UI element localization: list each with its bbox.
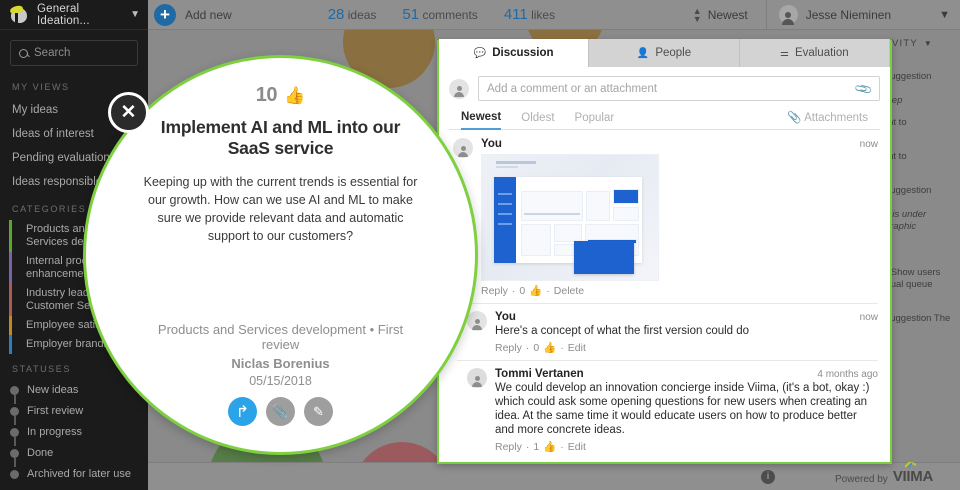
separator: · <box>560 441 564 453</box>
chat-icon: 💬 <box>474 48 486 59</box>
sort-label: Newest <box>708 8 748 22</box>
stat-comments[interactable]: 51 comments <box>402 6 477 23</box>
reply-button[interactable]: Reply <box>495 342 522 354</box>
comment-attachment-image[interactable] <box>481 154 659 281</box>
separator: · <box>512 285 516 297</box>
new-comment-row: Add a comment or an attachment 📎 <box>439 67 890 107</box>
workspace-title: General Ideation... <box>37 3 130 27</box>
paperclip-icon[interactable]: 📎 <box>853 78 873 98</box>
add-new-button[interactable]: + Add new <box>148 4 232 26</box>
viima-wordmark: VIIMA <box>893 468 933 485</box>
share-button[interactable]: ↱ <box>228 397 257 426</box>
like-count: 10 <box>256 84 277 107</box>
stat-label: comments <box>422 8 477 22</box>
status-dot-icon <box>10 386 19 395</box>
tab-evaluation[interactable]: ⚌Evaluation <box>740 39 890 67</box>
separator: · <box>526 441 530 453</box>
stat-label: likes <box>531 8 555 22</box>
close-icon[interactable]: ✕ <box>108 92 149 133</box>
comment-placeholder: Add a comment or an attachment <box>487 83 657 95</box>
sidebar-status-label: New ideas <box>27 384 78 397</box>
comment-sort-row: Newest Oldest Popular 📎 Attachments <box>449 107 880 130</box>
sliders-icon: ⚌ <box>780 48 789 59</box>
tab-discussion[interactable]: 💬Discussion <box>439 39 589 67</box>
user-menu[interactable]: Jesse Nieminen ▼ <box>766 0 960 30</box>
comment-item: Tommi Vertanen4 months agoWe could devel… <box>457 360 878 453</box>
attachments-label: Attachments <box>804 112 868 124</box>
edit-button[interactable]: ✎ <box>304 397 333 426</box>
separator: · <box>546 285 550 297</box>
info-icon[interactable]: i <box>761 470 775 484</box>
sidebar-status-label: Done <box>27 447 53 460</box>
top-toolbar: + Add new 28 ideas51 comments411 likes ▲… <box>148 0 960 30</box>
viima-tick-icon <box>905 462 916 468</box>
comment-input[interactable]: Add a comment or an attachment 📎 <box>478 76 880 101</box>
idea-title: Implement AI and ML into our SaaS servic… <box>138 117 423 159</box>
comment-timestamp: 4 months ago <box>817 369 878 380</box>
paperclip-icon: 📎 <box>272 404 288 420</box>
search-placeholder: Search <box>34 47 70 59</box>
plus-icon: + <box>154 4 176 26</box>
status-dot-icon <box>10 470 19 479</box>
status-dot-icon <box>10 407 19 416</box>
idea-detail-modal: 💬Discussion👤People⚌Evaluation Add a comm… <box>437 40 892 464</box>
tab-label: Evaluation <box>795 47 849 59</box>
comment-action-third[interactable]: Delete <box>554 285 584 297</box>
search-input[interactable]: Search <box>10 40 138 66</box>
avatar <box>453 138 473 158</box>
comment-like-count: 0 <box>533 342 539 354</box>
idea-description: Keeping up with the current trends is es… <box>138 173 423 245</box>
reply-button[interactable]: Reply <box>495 441 522 453</box>
comment-like-count: 0 <box>519 285 525 297</box>
sidebar-item-status-1[interactable]: First review <box>0 401 148 422</box>
attachments-link[interactable]: 📎 Attachments <box>787 110 868 129</box>
sidebar-item-status-3[interactable]: Done <box>0 443 148 464</box>
tab-label: Discussion <box>492 47 553 59</box>
comment-action-third[interactable]: Edit <box>568 342 586 354</box>
thumbs-up-icon[interactable]: 👍 <box>543 441 556 453</box>
comment-timestamp: now <box>860 139 878 150</box>
sort-oldest[interactable]: Oldest <box>521 112 554 129</box>
add-new-label: Add new <box>185 8 232 22</box>
comment-author: Tommi Vertanen <box>495 368 584 380</box>
sidebar-item-status-0[interactable]: New ideas <box>0 380 148 401</box>
chevron-down-icon[interactable]: ▼ <box>939 9 950 21</box>
sidebar-status-label: Archived for later use <box>27 468 131 481</box>
viima-text: VIIMA <box>893 468 933 485</box>
edit-icon: ✎ <box>313 404 324 420</box>
sort-selector[interactable]: ▲▼ Newest <box>693 7 748 23</box>
comment-author: You <box>481 138 502 150</box>
attach-button[interactable]: 📎 <box>266 397 295 426</box>
status-dot-icon <box>10 449 19 458</box>
person-icon: 👤 <box>637 48 649 59</box>
comment-item: YounowHere's a concept of what the first… <box>457 303 878 354</box>
idea-meta: Products and Services development • Firs… <box>138 322 423 452</box>
thumbs-up-icon[interactable]: 👍 <box>529 285 542 297</box>
comment-body: Tommi Vertanen4 months agoWe could devel… <box>495 368 878 453</box>
comment-text: We could develop an innovation concierge… <box>495 381 878 437</box>
search-icon <box>19 49 28 58</box>
separator: · <box>526 342 530 354</box>
stat-label: ideas <box>348 8 377 22</box>
tab-label: People <box>655 47 691 59</box>
sidebar-status-label: First review <box>27 405 83 418</box>
viima-logo-icon <box>8 5 30 25</box>
idea-category-status: Products and Services development • Firs… <box>138 322 423 352</box>
comment-header: Younow <box>481 138 878 150</box>
avatar <box>467 368 487 388</box>
modal-tab-bar: 💬Discussion👤People⚌Evaluation <box>439 39 890 67</box>
comment-actions: Reply·0👍·Delete <box>481 284 878 297</box>
chevron-down-icon[interactable]: ▼ <box>130 9 140 20</box>
sidebar-status-label: In progress <box>27 426 82 439</box>
paperclip-icon: 📎 <box>787 112 801 124</box>
stat-likes[interactable]: 411 likes <box>504 6 555 23</box>
stat-value: 51 <box>402 6 419 23</box>
comment-actions: Reply·1👍·Edit <box>495 440 878 453</box>
like-counter[interactable]: 10 👍 <box>256 84 305 107</box>
workspace-switcher[interactable]: General Ideation... ▼ <box>0 0 148 30</box>
idea-date: 05/15/2018 <box>138 374 423 388</box>
comment-actions: Reply·0👍·Edit <box>495 341 878 354</box>
comment-body: YounowReply·0👍·Delete <box>481 138 878 297</box>
stat-value: 28 <box>328 6 345 23</box>
tab-people[interactable]: 👤People <box>589 39 739 67</box>
avatar <box>779 5 798 24</box>
chevron-down-icon[interactable]: ▼ <box>924 39 932 48</box>
comment-body: YounowHere's a concept of what the first… <box>495 311 878 354</box>
sidebar-item-status-4[interactable]: Archived for later use <box>0 464 148 485</box>
comment-like-count: 1 <box>533 441 539 453</box>
stat-value: 411 <box>504 6 528 23</box>
stat-ideas[interactable]: 28 ideas <box>328 6 377 23</box>
comment-item: YounowReply·0👍·Delete <box>453 138 878 297</box>
share-icon: ↱ <box>236 402 249 422</box>
bottom-bar: i Powered by VIIMA <box>148 462 960 490</box>
sort-arrows-icon: ▲▼ <box>693 7 702 23</box>
idea-action-buttons: ↱📎✎ <box>138 397 423 426</box>
thumbs-up-icon[interactable]: 👍 <box>543 342 556 354</box>
comment-timestamp: now <box>860 312 878 323</box>
comment-author: You <box>495 311 516 323</box>
comment-header: Younow <box>495 311 878 323</box>
comment-action-third[interactable]: Edit <box>568 441 586 453</box>
idea-author: Niclas Borenius <box>138 356 423 371</box>
user-name: Jesse Nieminen <box>806 8 891 22</box>
powered-by: Powered by VIIMA <box>835 468 933 485</box>
thumbs-up-icon[interactable]: 👍 <box>284 86 305 106</box>
avatar <box>467 311 487 331</box>
powered-by-label: Powered by <box>835 474 888 485</box>
reply-button[interactable]: Reply <box>481 285 508 297</box>
sort-popular[interactable]: Popular <box>575 112 615 129</box>
sort-newest[interactable]: Newest <box>461 111 501 130</box>
comment-text: Here's a concept of what the first versi… <box>495 324 878 338</box>
comment-thread: YounowReply·0👍·DeleteYounowHere's a conc… <box>439 130 890 453</box>
comment-header: Tommi Vertanen4 months ago <box>495 368 878 380</box>
status-dot-icon <box>10 428 19 437</box>
sidebar-item-status-2[interactable]: In progress <box>0 422 148 443</box>
avatar <box>449 79 469 99</box>
separator: · <box>560 342 564 354</box>
